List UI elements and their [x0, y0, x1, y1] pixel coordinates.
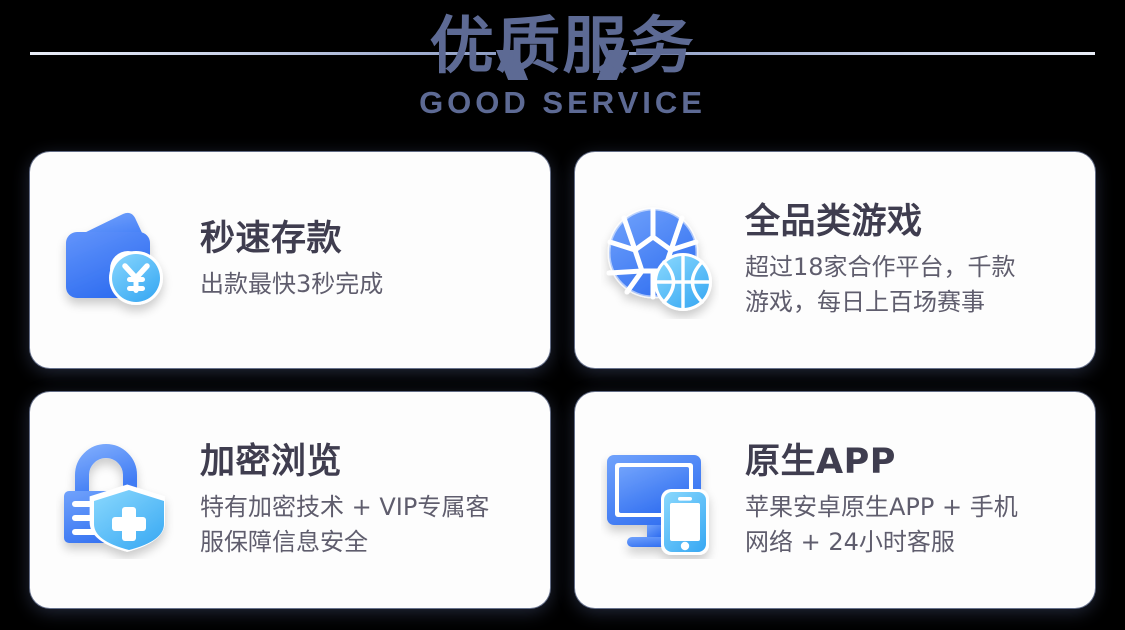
- card-description: 超过18家合作平台，千款 游戏，每日上百场赛事: [745, 250, 1077, 320]
- card-description: 苹果安卓原生APP + 手机 网络 + 24小时客服: [745, 490, 1077, 560]
- card-text-block: 原生APP 苹果安卓原生APP + 手机 网络 + 24小时客服: [745, 441, 1095, 560]
- lock-shield-icon: [30, 430, 200, 570]
- card-title: 原生APP: [745, 441, 1077, 483]
- service-card-games[interactable]: 全品类游戏 超过18家合作平台，千款 游戏，每日上百场赛事: [575, 152, 1095, 368]
- service-banner: 优质服务 GOOD SERVICE: [0, 0, 1125, 630]
- page-title: 优质服务: [0, 8, 1125, 84]
- page-subtitle: GOOD SERVICE: [0, 86, 1125, 120]
- header-title-block: 优质服务 GOOD SERVICE: [0, 8, 1125, 120]
- service-card-native-app[interactable]: 原生APP 苹果安卓原生APP + 手机 网络 + 24小时客服: [575, 392, 1095, 608]
- service-card-grid: 秒速存款 出款最快3秒完成: [30, 152, 1095, 608]
- card-text-block: 秒速存款 出款最快3秒完成: [200, 218, 550, 302]
- banner-header: 优质服务 GOOD SERVICE: [0, 0, 1125, 140]
- card-title: 加密浏览: [200, 441, 532, 483]
- wallet-yen-icon: [30, 190, 200, 330]
- monitor-phone-icon: [575, 430, 745, 570]
- card-text-block: 全品类游戏 超过18家合作平台，千款 游戏，每日上百场赛事: [745, 201, 1095, 320]
- card-text-block: 加密浏览 特有加密技术 + VIP专属客 服保障信息安全: [200, 441, 550, 560]
- soccer-basketball-icon: [575, 190, 745, 330]
- service-card-deposit[interactable]: 秒速存款 出款最快3秒完成: [30, 152, 550, 368]
- card-title: 全品类游戏: [745, 201, 1077, 243]
- service-card-encryption[interactable]: 加密浏览 特有加密技术 + VIP专属客 服保障信息安全: [30, 392, 550, 608]
- card-title: 秒速存款: [200, 218, 532, 260]
- card-description: 特有加密技术 + VIP专属客 服保障信息安全: [200, 490, 532, 560]
- card-description: 出款最快3秒完成: [200, 267, 532, 302]
